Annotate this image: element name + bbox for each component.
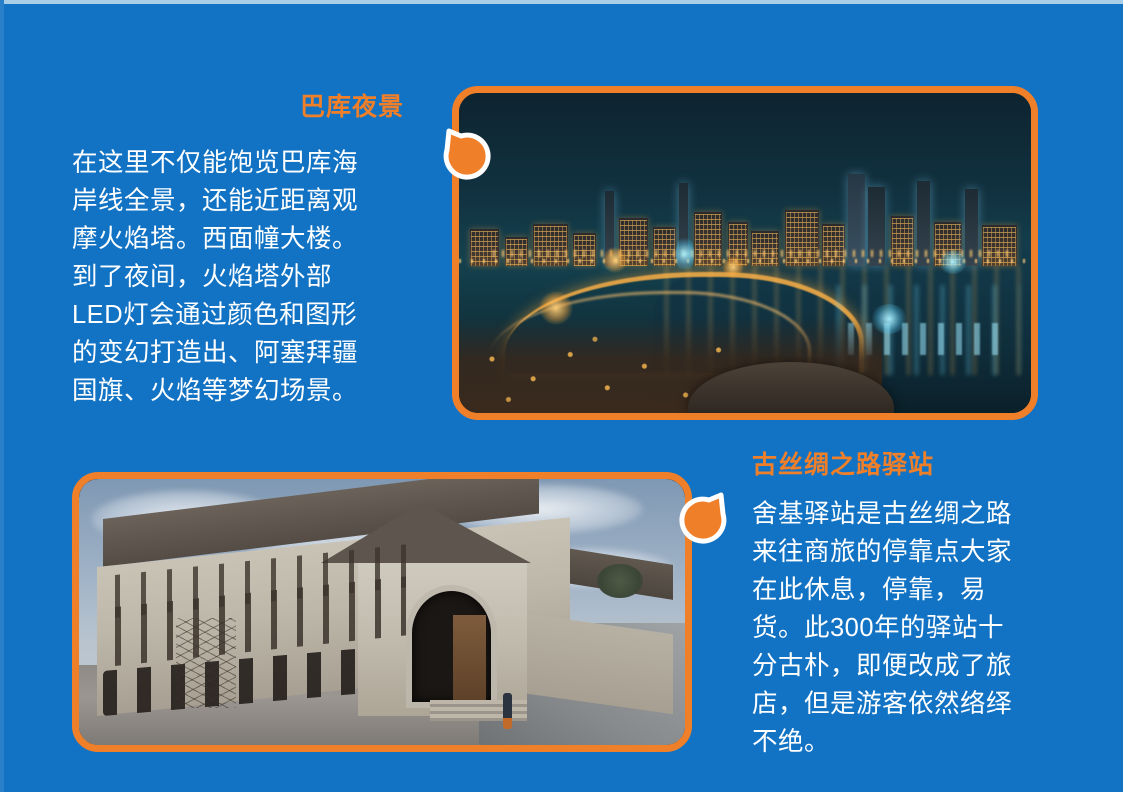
body-line: 在这里不仅能饱览巴库海	[72, 144, 414, 182]
body-line: 舍基驿站是古丝绸之路	[752, 495, 1072, 533]
body-line: 岸线全景，还能近距离观	[72, 182, 414, 220]
text-block-silkroad: 古丝绸之路驿站 舍基驿站是古丝绸之路 来往商旅的停靠点大家 在此休息，停靠，易 …	[752, 452, 1072, 761]
text-block-baku: 巴库夜景 在这里不仅能饱览巴库海 岸线全景，还能近距离观 摩火焰塔。西面幢大楼。…	[62, 94, 414, 410]
photo-sheki-caravanserai-image	[79, 479, 685, 745]
entrance-steps	[430, 700, 527, 721]
callout-bubble-silkroad[interactable]	[676, 488, 734, 546]
body-line: 摩火焰塔。西面幢大楼。	[72, 220, 414, 258]
bare-tree	[176, 618, 236, 708]
body-line: 来往商旅的停靠点大家	[752, 533, 1072, 571]
section-body-baku: 在这里不仅能饱览巴库海 岸线全景，还能近距离观 摩火焰塔。西面幢大楼。 到了夜间…	[62, 144, 414, 410]
background-tree	[597, 564, 643, 598]
speech-bubble-dot-icon	[676, 488, 734, 546]
body-line: 国旗、火焰等梦幻场景。	[72, 372, 414, 410]
photo-baku-night-image	[459, 93, 1031, 413]
body-line: 分古朴，即便改成了旅	[752, 647, 1072, 685]
speech-bubble-dot-icon	[436, 124, 494, 182]
body-line: LED灯会通过颜色和图形	[72, 296, 414, 334]
shore-lights	[493, 250, 1008, 257]
body-line: 货。此300年的驿站十	[752, 609, 1072, 647]
photo-sheki-caravanserai	[72, 472, 692, 752]
section-title-silkroad: 古丝绸之路驿站	[752, 452, 1072, 480]
wooden-gate-door	[453, 615, 486, 702]
body-line: 在此休息，停靠，易	[752, 571, 1072, 609]
body-line: 店，但是游客依然络绎	[752, 685, 1072, 723]
body-line: 的变幻打造出、阿塞拜疆	[72, 334, 414, 372]
photo-baku-night	[452, 86, 1038, 420]
main-arched-gateway	[412, 591, 491, 703]
section-body-silkroad: 舍基驿站是古丝绸之路 来往商旅的停靠点大家 在此休息，停靠，易 货。此300年的…	[752, 495, 1072, 761]
glow-point	[602, 247, 628, 273]
callout-bubble-baku[interactable]	[436, 124, 494, 182]
slide-left-edge-line	[0, 0, 4, 792]
slide-canvas: 巴库夜景 在这里不仅能饱览巴库海 岸线全景，还能近距离观 摩火焰塔。西面幢大楼。…	[0, 0, 1123, 792]
section-title-baku: 巴库夜景	[62, 94, 414, 122]
pedestrian	[503, 693, 512, 729]
slide-top-edge-line	[0, 0, 1123, 4]
cyan-glow-point	[871, 304, 907, 334]
body-line: 到了夜间，火焰塔外部	[72, 258, 414, 296]
body-line: 不绝。	[752, 723, 1072, 761]
